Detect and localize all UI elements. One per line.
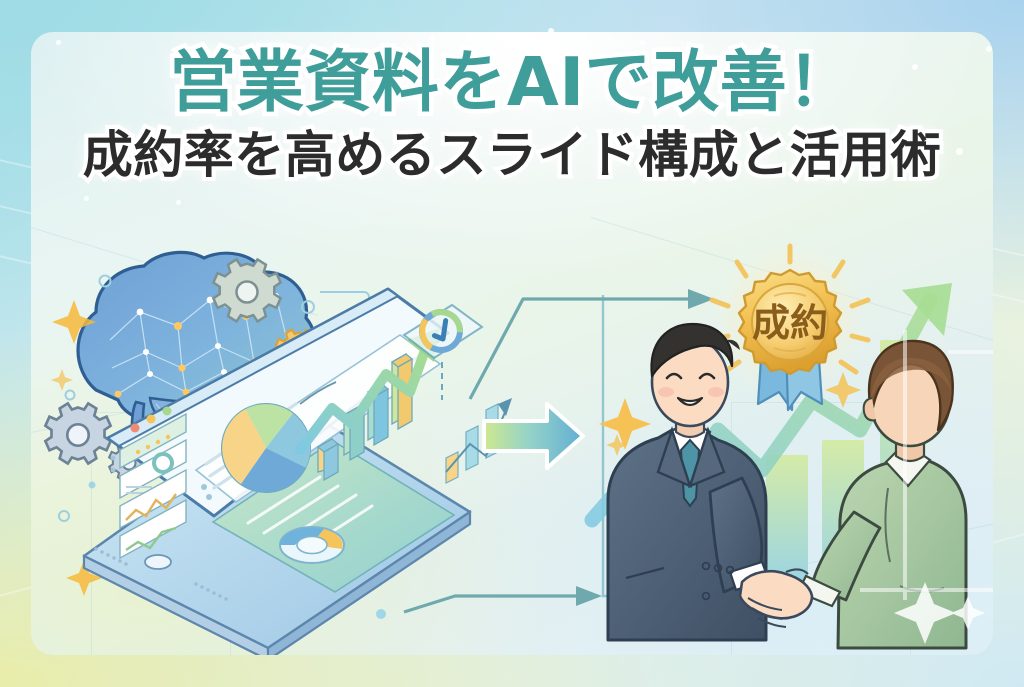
award-label: 成約 (752, 301, 828, 345)
connector-arrow-bottom (404, 596, 581, 612)
banner-canvas: 成約 (0, 0, 1024, 687)
page-title-sub: 成約率を高めるスライド構成と活用術 (0, 130, 1024, 181)
keyboard-donut-chart (280, 527, 344, 563)
title-block: 営業資料をAIで改善！ 成約率を高めるスライド構成と活用術 (0, 48, 1024, 181)
transformation-arrow (484, 404, 583, 468)
gear-icon-left-large (45, 403, 110, 463)
connector-arrow-head (576, 586, 602, 606)
page-title-main: 営業資料をAIで改善！ (0, 48, 1024, 116)
